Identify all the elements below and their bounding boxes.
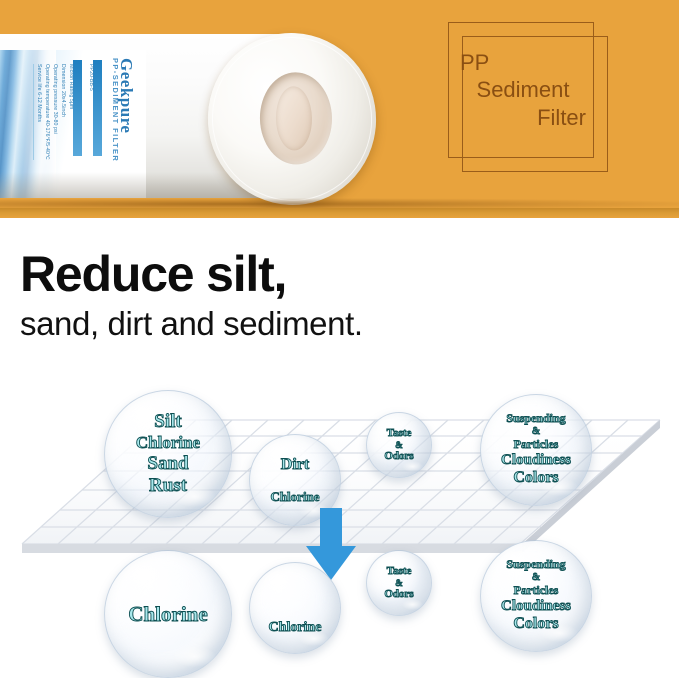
bubble-line: Chlorine [270,489,319,504]
bubble-line: Chlorine [269,620,322,636]
label-model-bar-text: Model No [102,64,108,91]
bubble-line: Cloudiness [501,598,571,615]
banner-bottom-strip [0,208,679,218]
label-product-name: PP-SEDIMENT FILTER [111,58,120,162]
label-spec-bar-text: Specification [82,64,88,101]
bubble-line: Odors [384,588,413,601]
callout-line-pp: PP [460,49,586,76]
bubble-line: Particles [514,584,559,598]
callout-text: PP Sediment Filter [448,22,594,158]
bubble-line: Colors [513,615,558,634]
bubble-line: & [395,578,403,588]
callout-line-sediment: Sediment [460,76,586,103]
label-spec-bar [73,60,82,156]
pp-sediment-filter-callout: PP Sediment Filter [448,22,608,172]
bubble-line: Silt [154,411,181,433]
bubble-silt-chlorine-sand-rust: Silt Chlorine Sand Rust [104,390,232,518]
label-text-block: Geekpure PP-SEDIMENT FILTER Model No PP2… [0,50,144,198]
headline-block: Reduce silt, sand, dirt and sediment. [20,248,660,345]
bubble-taste-odors-2: Taste & Odors [366,550,432,616]
filtration-diagram: Silt Chlorine Sand Rust Dirt Chlorine Ta… [0,372,679,667]
filter-center-core [275,86,312,151]
bubble-line: Odors [384,450,413,463]
label-spec-5: Service life 6-12 Months [36,64,42,122]
bubble-chlorine-small: Chlorine [249,562,341,654]
bubble-chlorine-large: Chlorine [104,550,232,678]
bubble-line: Suspending [506,412,565,426]
label-spec-1: Micron Rating 5μm [68,64,74,109]
label-model-bar [93,60,102,156]
label-model-value: PP20-BB-5 [88,64,94,91]
bubble-line: Particles [514,438,559,452]
label-spec-3: Operating pressure 30-80 psi [52,64,58,134]
product-label: Geekpure PP-SEDIMENT FILTER Model No PP2… [0,50,146,198]
bubble-line: Rust [149,475,187,497]
bubble-taste-odors: Taste & Odors [366,412,432,478]
bubble-line: Dirt [281,456,309,475]
headline-primary: Reduce silt, [20,248,660,301]
bubble-line: Colors [513,469,558,488]
callout-line-filter: Filter [460,104,586,131]
product-image: Geekpure PP-SEDIMENT FILTER Model No PP2… [0,28,386,208]
bubble-line: Suspending [506,558,565,572]
hero-banner: Geekpure PP-SEDIMENT FILTER Model No PP2… [0,0,679,218]
bubble-line: Sand [147,453,188,475]
bubble-line: Chlorine [128,602,207,626]
bubble-line: & [395,440,403,450]
bubble-line: Chlorine [136,433,200,453]
bubble-line: Taste [387,427,412,440]
label-spec-2: Dimension 20x4.5inch [60,64,66,117]
headline-secondary: sand, dirt and sediment. [20,303,660,345]
bubble-line: Cloudiness [501,452,571,469]
bubble-suspending-particles: Suspending & Particles Cloudiness Colors [480,394,592,506]
bubble-line: Taste [387,565,412,578]
label-divider [33,64,34,160]
arrow-shaft [320,508,342,548]
bubble-suspending-particles-2: Suspending & Particles Cloudiness Colors [480,540,592,652]
label-spec-4: Operating temperature 40-176℉/5-40℃ [44,64,50,160]
